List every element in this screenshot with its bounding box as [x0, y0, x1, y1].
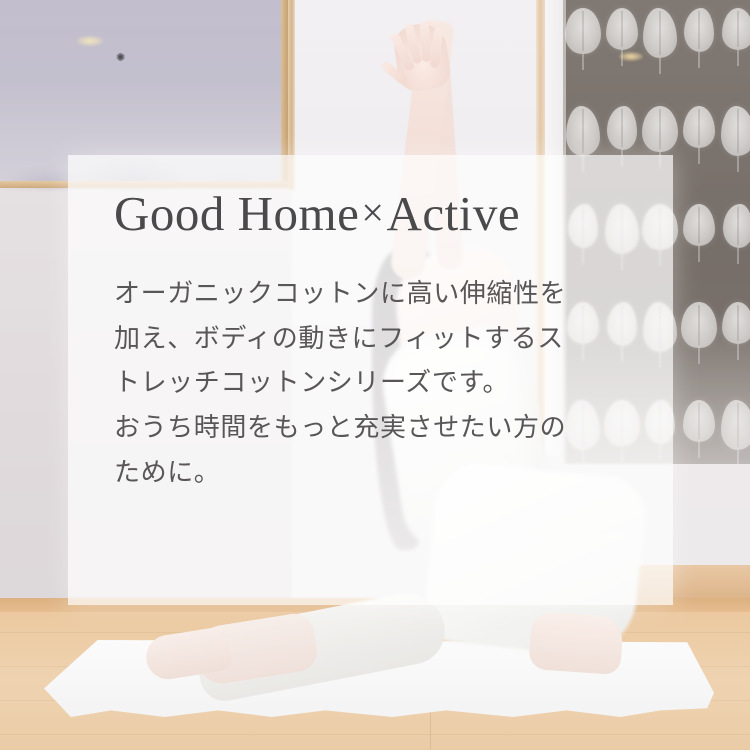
title-right: Active: [386, 186, 520, 241]
banner-image: ✺: [0, 0, 750, 750]
body-line: オーガニックコットンに高い伸縮性を: [114, 272, 643, 317]
banner-body-copy: オーガニックコットンに高い伸縮性を 加え、ボディの動きにフィットするス トレッチ…: [114, 272, 643, 496]
body-line: ために。: [114, 451, 643, 496]
banner-title: Good Home×Active: [114, 189, 643, 238]
text-overlay-panel: Good Home×Active オーガニックコットンに高い伸縮性を 加え、ボデ…: [68, 155, 673, 605]
title-separator-icon: ×: [359, 190, 386, 235]
body-line: トレッチコットンシリーズです。: [114, 361, 643, 406]
body-line: おうち時間をもっと充実させたい方の: [114, 406, 643, 451]
overlay-content: Good Home×Active オーガニックコットンに高い伸縮性を 加え、ボデ…: [114, 189, 643, 496]
front-foot: [528, 611, 624, 675]
title-left: Good Home: [114, 186, 359, 241]
body-line: 加え、ボディの動きにフィットするス: [114, 317, 643, 362]
